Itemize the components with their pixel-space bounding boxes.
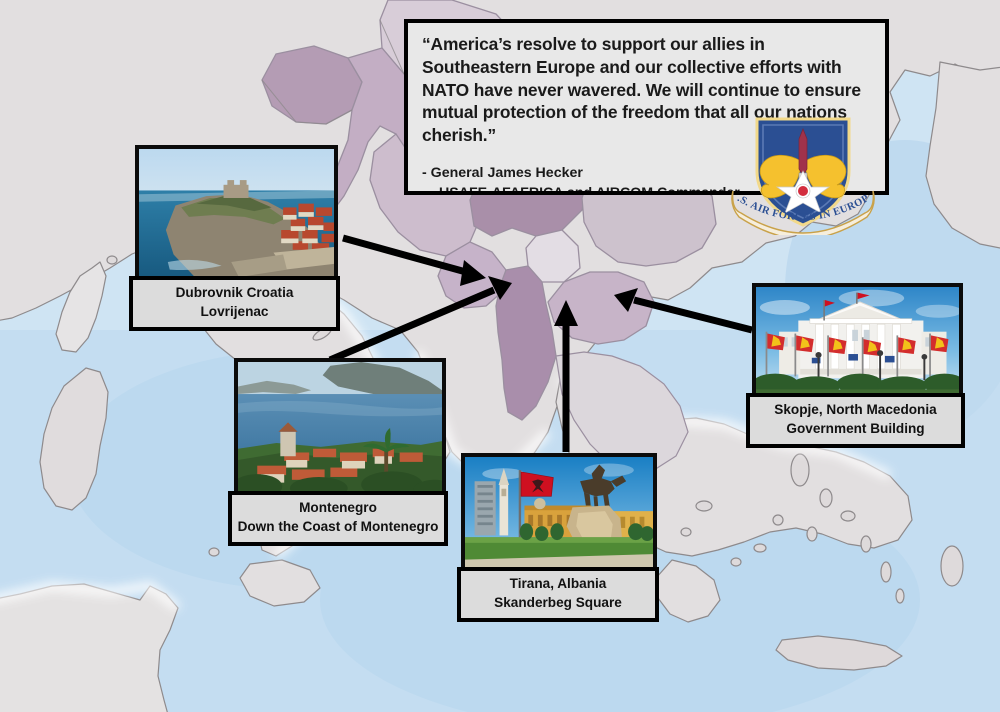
callout-skopje[interactable]: Skopje, North Macedonia Government Build… [746,283,965,448]
callout-montenegro[interactable]: Montenegro Down the Coast of Montenegro [228,358,448,546]
quote-attribution-name: - General James Hecker [422,165,583,181]
caption-skopje: Skopje, North Macedonia Government Build… [746,393,965,448]
usafe-shield-emblem: U.S. AIR FORCES IN EUROPE [727,113,879,235]
caption-line-1: Montenegro [236,499,440,518]
caption-line-2: Government Building [754,420,957,439]
montenegro-coastline-photo [234,358,446,497]
skopje-government-building-photo [752,283,963,399]
caption-line-2: Skanderbeg Square [465,594,651,613]
caption-line-2: Down the Coast of Montenegro [236,518,440,537]
caption-dubrovnik: Dubrovnik Croatia Lovrijenac [129,276,340,331]
tirana-skanderbeg-square-photo [461,453,657,573]
caption-tirana: Tirana, Albania Skanderbeg Square [457,567,659,622]
north-africa-landmass [0,584,178,712]
caption-line-2: Lovrijenac [137,303,332,322]
star-center-red [798,186,808,196]
sword-blade [799,129,807,175]
caption-line-1: Tirana, Albania [465,575,651,594]
caption-montenegro: Montenegro Down the Coast of Montenegro [228,491,448,546]
graphic-canvas: “America’s resolve to support our allies… [0,0,1000,712]
caption-line-1: Skopje, North Macedonia [754,401,957,420]
dubrovnik-fort-lovrijenac-photo [135,145,338,283]
callout-dubrovnik[interactable]: Dubrovnik Croatia Lovrijenac [129,145,340,331]
callout-tirana[interactable]: Tirana, Albania Skanderbeg Square [457,453,659,622]
caption-line-1: Dubrovnik Croatia [137,284,332,303]
